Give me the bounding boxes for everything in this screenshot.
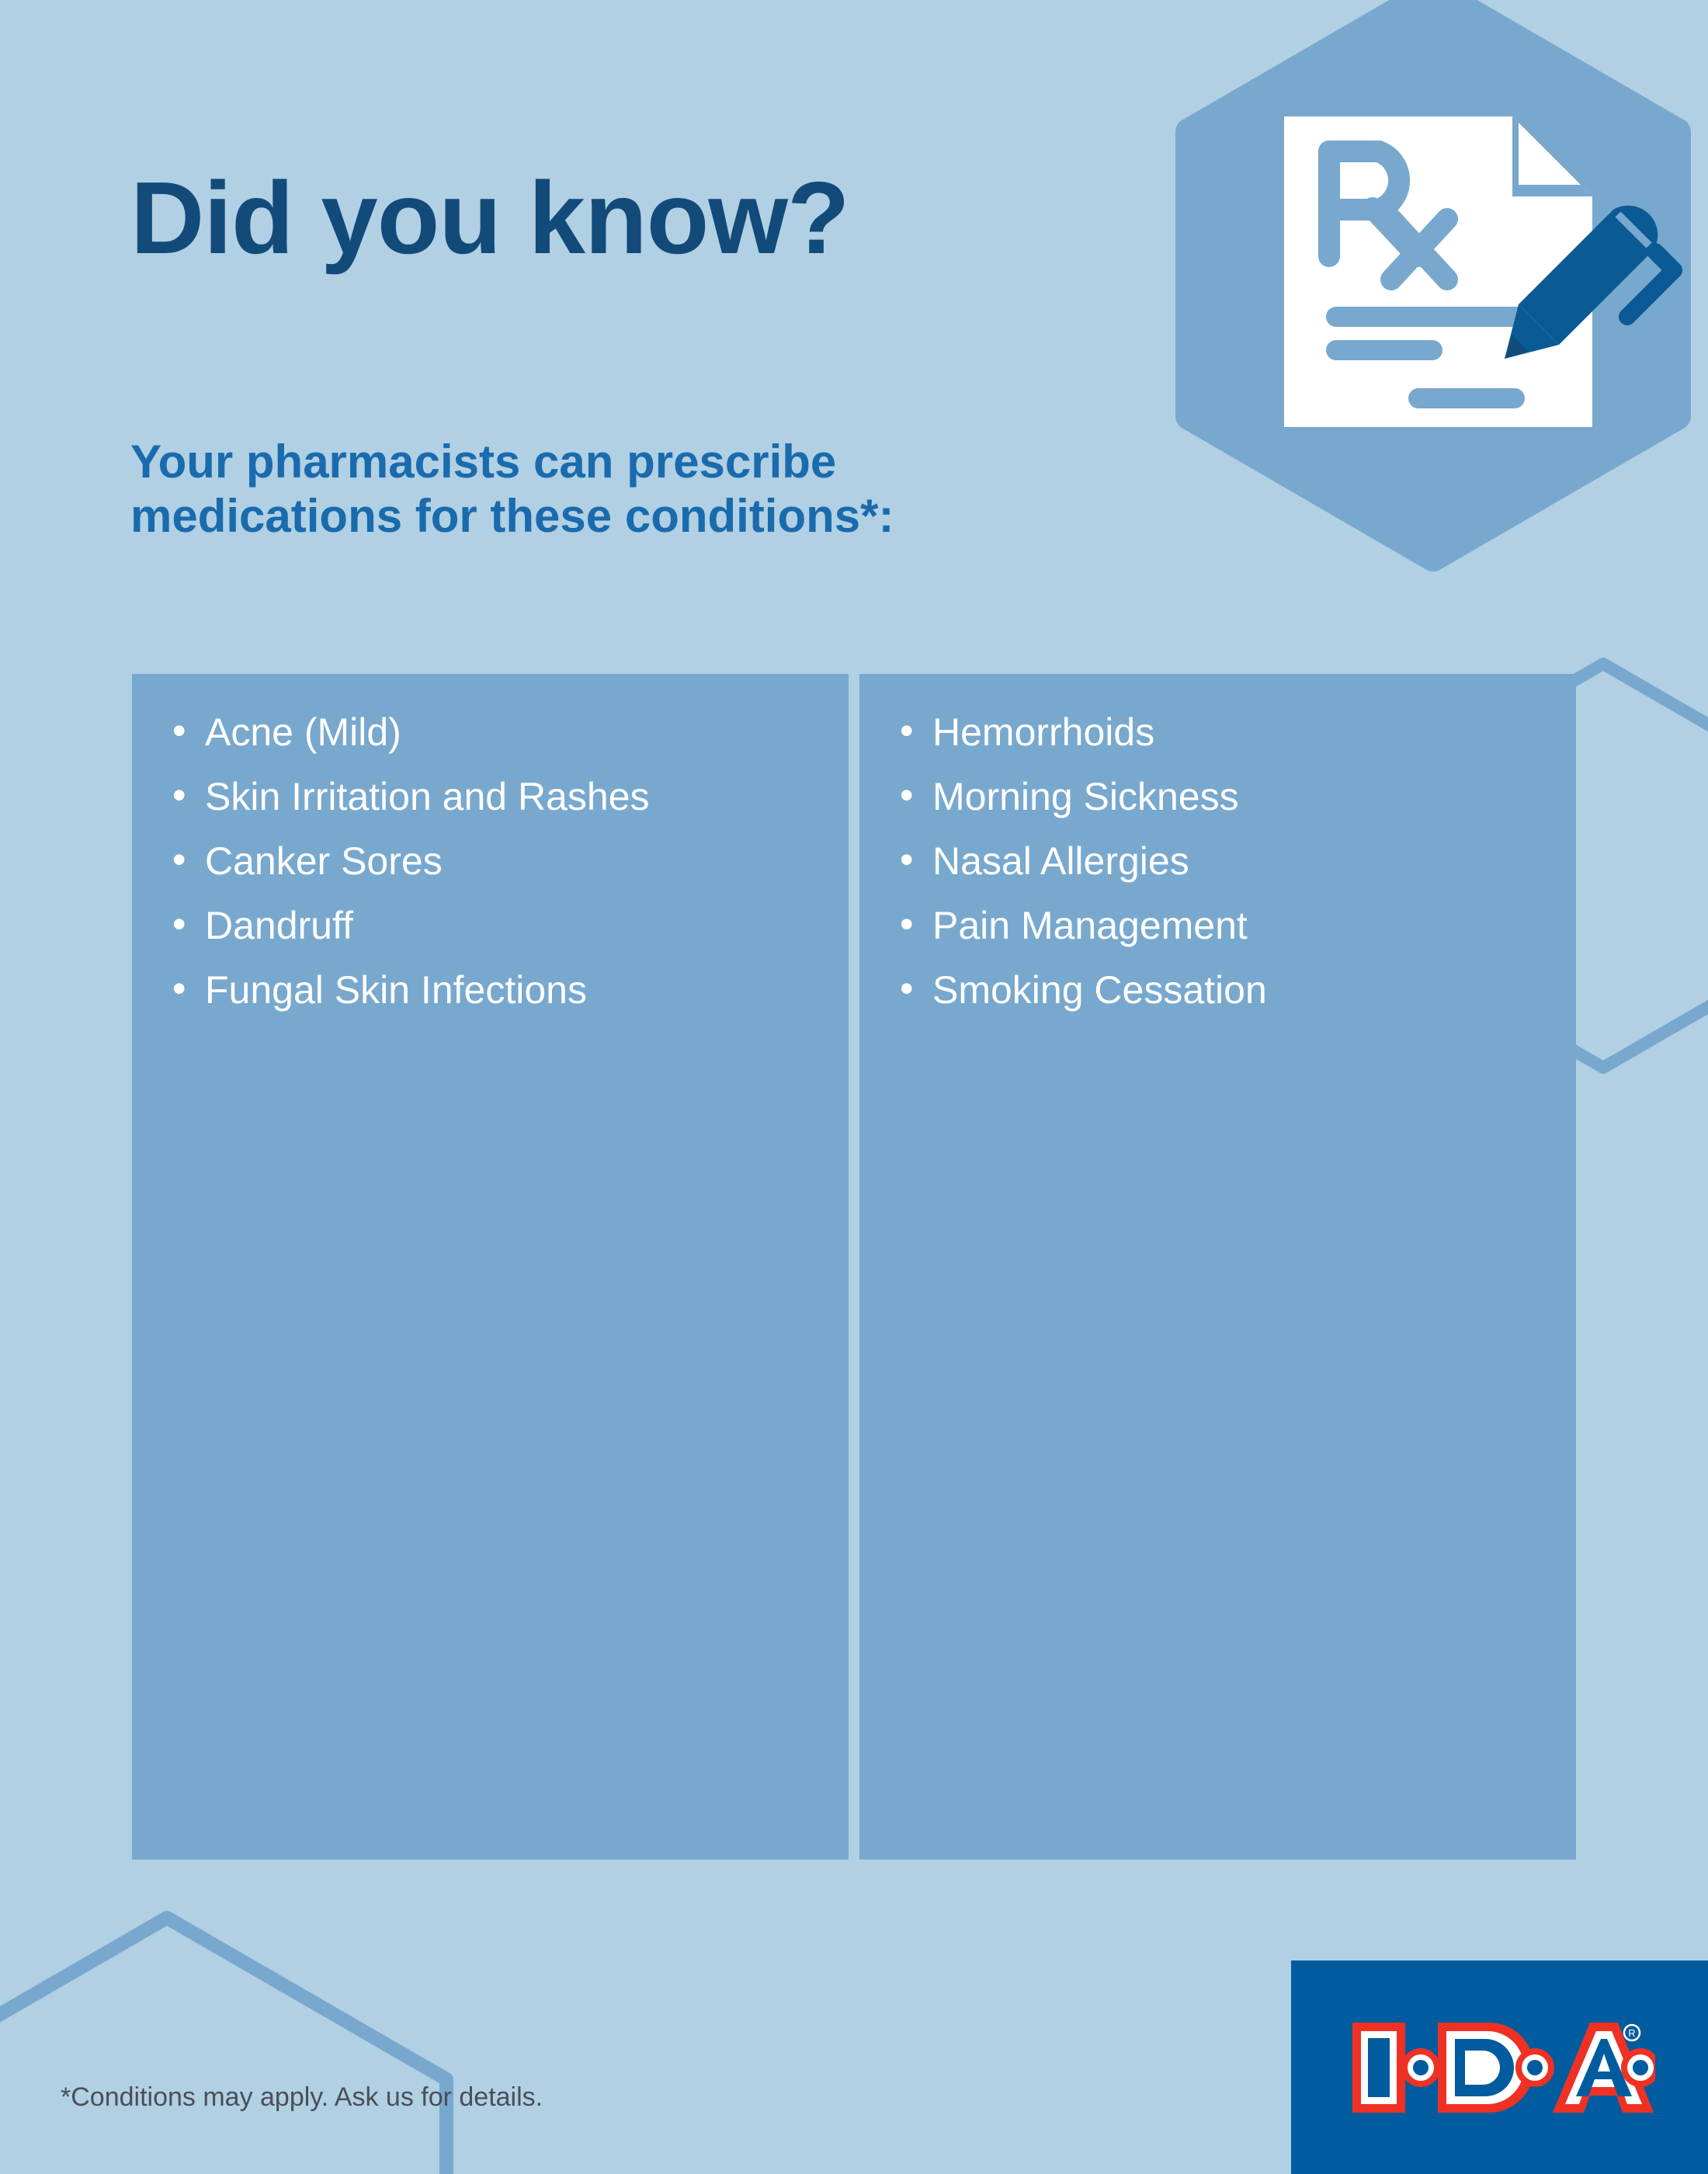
svg-text:R: R: [1628, 2027, 1635, 2039]
conditions-list-right: Hemorrhoids Morning Sickness Nasal Aller…: [859, 713, 1576, 1009]
conditions-panel-left: Acne (Mild) Skin Irritation and Rashes C…: [132, 674, 849, 1860]
list-item: Fungal Skin Infections: [172, 971, 849, 1009]
hexagon-badge: [1161, 0, 1705, 644]
hexagon-outline-icon: [0, 1918, 446, 2174]
page-subtitle: Your pharmacists can prescribe medicatio…: [130, 435, 1140, 543]
list-item: Pain Management: [900, 906, 1576, 945]
ida-logo-box: R: [1291, 1960, 1708, 2174]
paper-line: [1326, 340, 1442, 360]
list-item: Smoking Cessation: [900, 971, 1576, 1009]
list-item: Hemorrhoids: [900, 713, 1576, 752]
list-item: Skin Irritation and Rashes: [172, 777, 849, 816]
poster-canvas: Did you know? Your pharmacists can presc…: [0, 0, 1708, 2174]
list-item: Nasal Allergies: [900, 842, 1576, 880]
paper-line: [1326, 307, 1526, 327]
list-item: Canker Sores: [172, 842, 849, 880]
list-item: Dandruff: [172, 906, 849, 945]
conditions-panels: Acne (Mild) Skin Irritation and Rashes C…: [132, 674, 1576, 1860]
ida-logo: R: [1345, 2013, 1655, 2122]
page-title: Did you know?: [130, 165, 849, 273]
conditions-panel-right: Hemorrhoids Morning Sickness Nasal Aller…: [859, 674, 1576, 1860]
list-item: Morning Sickness: [900, 777, 1576, 816]
conditions-list-left: Acne (Mild) Skin Irritation and Rashes C…: [132, 713, 849, 1009]
paper-signature-line: [1408, 388, 1525, 408]
list-item: Acne (Mild): [172, 713, 849, 752]
rx-prescription-icon: [1161, 0, 1705, 644]
subtitle-line-1: Your pharmacists can prescribe: [130, 435, 1140, 489]
subtitle-line-2: medications for these conditions*:: [130, 489, 1140, 543]
ida-logo-letters: [1352, 2023, 1655, 2113]
registered-mark-icon: R: [1624, 2025, 1640, 2040]
footnote-text: *Conditions may apply. Ask us for detail…: [61, 2082, 543, 2113]
